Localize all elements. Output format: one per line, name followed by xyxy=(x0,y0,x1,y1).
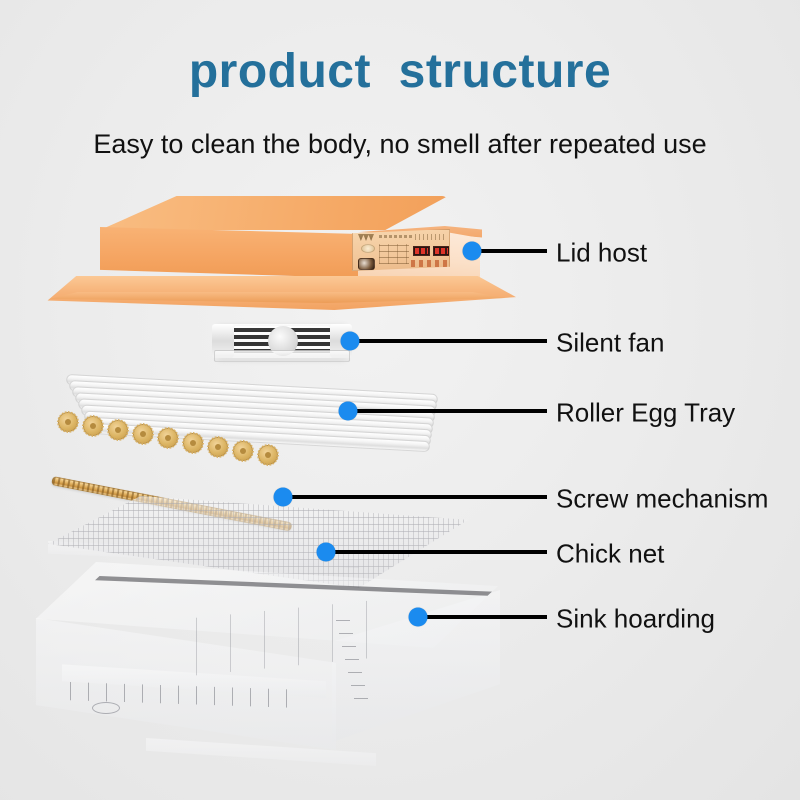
callout-lid-host: Lid host xyxy=(556,238,796,268)
roller-gear xyxy=(108,420,128,440)
base-rib xyxy=(342,646,356,647)
base-foot-rim xyxy=(146,738,376,778)
roller-gear xyxy=(183,433,203,453)
roller-gear xyxy=(58,412,78,432)
page-subtitle: Easy to clean the body, no smell after r… xyxy=(0,129,800,160)
base-rib xyxy=(345,659,359,660)
marker-dot-lid-host[interactable] xyxy=(463,242,482,261)
base-rib xyxy=(351,685,365,686)
panel-button-row xyxy=(411,260,449,267)
leader-line-silent-fan xyxy=(359,339,547,343)
leader-line-sink-hoarding xyxy=(427,615,547,619)
marker-dot-silent-fan[interactable] xyxy=(341,332,360,351)
leader-line-lid-host xyxy=(481,249,547,253)
part-sink-hoarding xyxy=(36,562,498,790)
callout-label-screw-mechanism: Screw mechanism xyxy=(556,484,768,515)
leader-line-screw-mechanism xyxy=(292,495,547,499)
callout-label-chick-net: Chick net xyxy=(556,539,664,570)
certification-seal-icon xyxy=(361,244,375,253)
page-title: product structure xyxy=(0,44,800,99)
part-silent-fan xyxy=(208,320,356,364)
leader-line-roller-egg-tray xyxy=(357,409,547,413)
power-jack-icon xyxy=(358,258,375,270)
product-structure-diagram: product structure Easy to clean the body… xyxy=(0,0,800,800)
panel-legend-icons xyxy=(379,244,409,264)
marker-dot-screw-mechanism[interactable] xyxy=(274,488,293,507)
callout-chick-net: Chick net xyxy=(556,539,796,569)
callout-screw-mechanism: Screw mechanism xyxy=(556,484,796,514)
callout-label-sink-hoarding: Sink hoarding xyxy=(556,604,715,635)
roller-gear xyxy=(83,416,103,436)
callout-roller-egg-tray: Roller Egg Tray xyxy=(556,398,796,428)
roller-gear xyxy=(133,424,153,444)
fan-base-plate xyxy=(214,350,350,362)
brand-logo-icon xyxy=(358,234,374,241)
callout-label-silent-fan: Silent fan xyxy=(556,328,664,359)
base-rib xyxy=(336,620,350,621)
leader-line-chick-net xyxy=(335,550,547,554)
roller-gear xyxy=(208,437,228,457)
led-display-temperature xyxy=(413,246,430,256)
lid-top-face xyxy=(100,196,448,230)
callout-silent-fan: Silent fan xyxy=(556,328,796,358)
roller-gear xyxy=(158,428,178,448)
base-rib xyxy=(354,698,368,699)
callout-label-lid-host: Lid host xyxy=(556,238,647,269)
marker-dot-chick-net[interactable] xyxy=(317,543,336,562)
panel-model-text xyxy=(379,235,413,238)
base-rib xyxy=(339,633,353,634)
callout-sink-hoarding: Sink hoarding xyxy=(556,604,796,634)
led-display-humidity xyxy=(433,246,450,256)
marker-dot-roller-egg-tray[interactable] xyxy=(339,402,358,421)
callout-label-roller-egg-tray: Roller Egg Tray xyxy=(556,398,735,429)
panel-indicator-row xyxy=(415,234,447,240)
base-drain-hole-icon xyxy=(92,702,120,714)
base-rib xyxy=(348,672,362,673)
marker-dot-sink-hoarding[interactable] xyxy=(409,608,428,627)
part-roller-egg-tray xyxy=(40,378,460,450)
